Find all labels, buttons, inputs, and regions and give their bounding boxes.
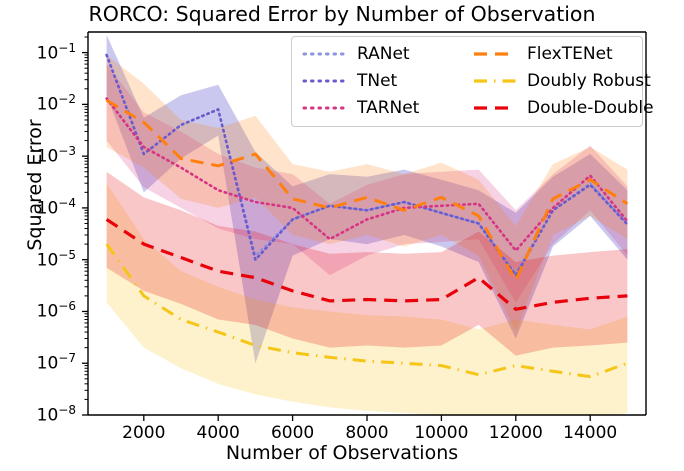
- legend-item-tarnet[interactable]: TARNet: [302, 95, 419, 121]
- chart-legend: RANetTNetTARNetFlexTENetDoubly RobustDou…: [291, 36, 643, 127]
- legend-label: RANet: [348, 44, 410, 64]
- legend-line-swatch: [472, 98, 518, 118]
- legend-item-flextenet[interactable]: FlexTENet: [472, 41, 613, 67]
- legend-line-swatch: [472, 71, 518, 91]
- x-tick-label: 12000: [476, 423, 556, 443]
- x-tick-label: 4000: [178, 423, 258, 443]
- legend-line-swatch: [302, 44, 348, 64]
- y-tick-label: 10−3: [0, 144, 76, 167]
- legend-label: TNet: [348, 71, 397, 91]
- x-tick-label: 14000: [550, 423, 630, 443]
- legend-label: Double-Double: [518, 98, 654, 118]
- y-tick-label: 10−7: [0, 351, 76, 374]
- legend-line-swatch: [472, 44, 518, 64]
- y-tick-label: 10−4: [0, 196, 76, 219]
- x-tick-label: 8000: [327, 423, 407, 443]
- legend-line-swatch: [302, 71, 348, 91]
- chart-figure: RORCO: Squared Error by Number of Observ…: [0, 0, 684, 471]
- legend-label: FlexTENet: [518, 44, 613, 64]
- y-tick-label: 10−5: [0, 248, 76, 271]
- legend-label: Doubly Robust: [518, 71, 651, 91]
- legend-item-doubly-robust[interactable]: Doubly Robust: [472, 68, 651, 94]
- y-tick-label: 10−1: [0, 41, 76, 64]
- x-tick-label: 2000: [104, 423, 184, 443]
- legend-item-tnet[interactable]: TNet: [302, 68, 397, 94]
- x-tick-label: 6000: [253, 423, 333, 443]
- y-tick-label: 10−2: [0, 92, 76, 115]
- y-tick-label: 10−6: [0, 299, 76, 322]
- legend-label: TARNet: [348, 98, 419, 118]
- legend-line-swatch: [302, 98, 348, 118]
- legend-item-ranet[interactable]: RANet: [302, 41, 410, 67]
- x-tick-label: 10000: [401, 423, 481, 443]
- y-tick-label: 10−8: [0, 403, 76, 426]
- legend-item-double-double[interactable]: Double-Double: [472, 95, 654, 121]
